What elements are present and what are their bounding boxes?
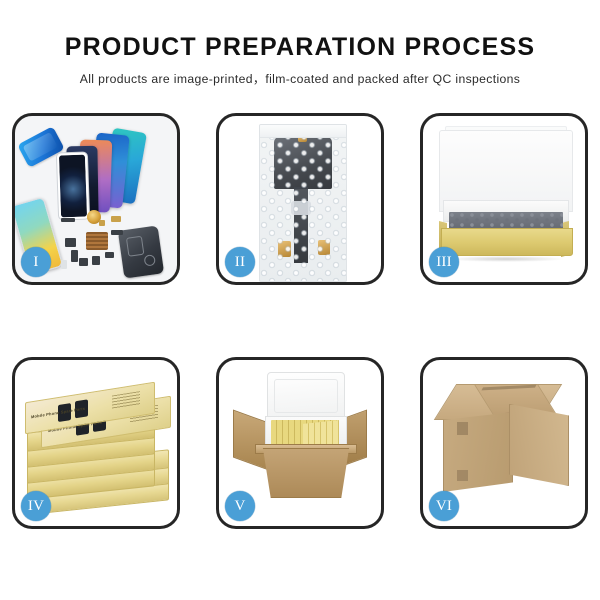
box-shadow: [447, 256, 565, 262]
circuit-board-part: [86, 232, 108, 250]
carton-flap-left: [233, 409, 269, 470]
step-badge-6: VI: [429, 491, 459, 521]
bubble-texture: [260, 125, 346, 281]
step-panel-5: V: [216, 357, 384, 529]
carton-tape-upper: [457, 422, 468, 435]
step-panel-4: Mobile Phone Spare Parts Mobile Phone Sp…: [12, 357, 180, 529]
product-preparation-infographic: PRODUCT PREPARATION PROCESS All products…: [0, 0, 600, 600]
carton-front-face: [443, 412, 513, 492]
page-subtitle: All products are image-printed，film-coat…: [0, 60, 600, 87]
spare-parts-group: [59, 208, 169, 282]
carton-side-face: [509, 404, 569, 486]
carton-front: [257, 448, 355, 498]
step-badge-3: III: [429, 247, 459, 277]
header: PRODUCT PREPARATION PROCESS All products…: [0, 0, 600, 87]
box-front-panel: [441, 228, 573, 256]
carton-tape-lower: [457, 470, 468, 481]
bag-seal: [260, 125, 346, 138]
step-panel-2: II: [216, 113, 384, 285]
step-panel-3: III: [420, 113, 588, 285]
steps-grid: I II: [12, 113, 588, 529]
bubble-wrap-bag: [259, 124, 347, 282]
phone-backplate-part: [118, 225, 164, 278]
step-badge-4: IV: [21, 491, 51, 521]
foam-box-lid: [267, 372, 345, 420]
step-badge-1: I: [21, 247, 51, 277]
step-panel-6: VI: [420, 357, 588, 529]
page-title: PRODUCT PREPARATION PROCESS: [0, 0, 600, 60]
step-badge-5: V: [225, 491, 255, 521]
step-panel-1: I: [12, 113, 180, 285]
step-badge-2: II: [225, 247, 255, 277]
